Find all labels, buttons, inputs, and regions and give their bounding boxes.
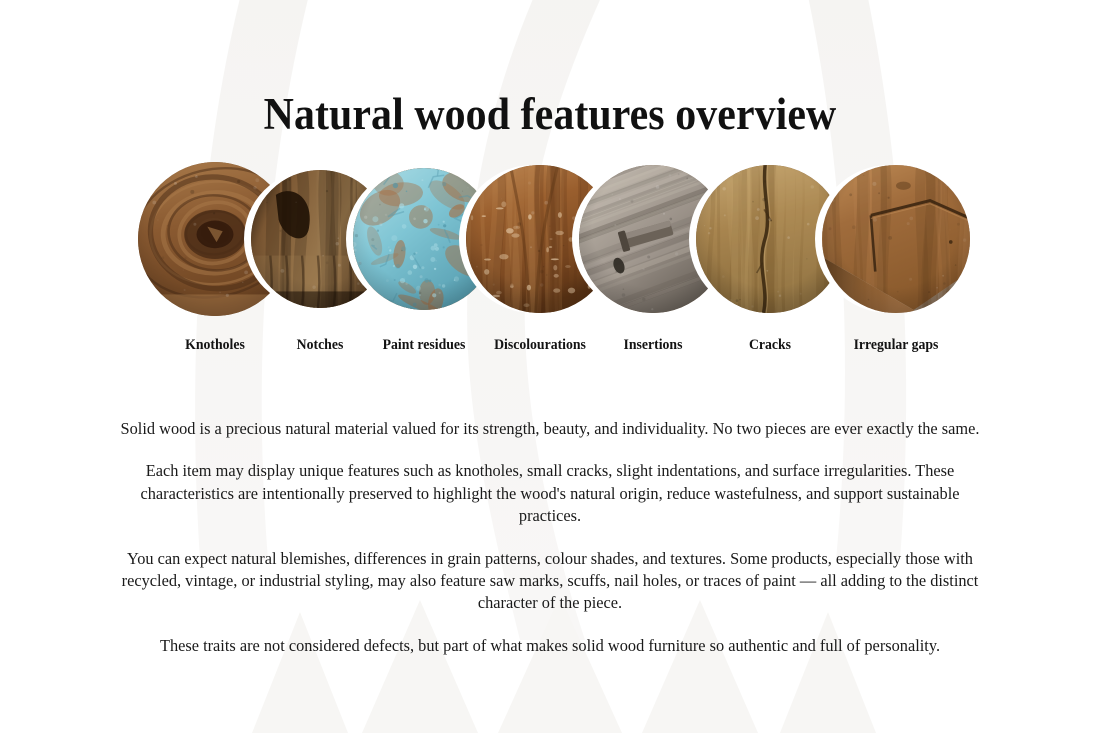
paragraph-2: Each item may display unique features su… [112, 460, 989, 527]
paragraph-1: Solid wood is a precious natural materia… [101, 418, 999, 440]
paragraph-3: You can expect natural blemishes, differ… [107, 548, 994, 615]
feature-circle-strip: Knotholes Notches Paint residues [0, 160, 1100, 360]
feature-label-irregular-gaps: Irregular gaps [769, 336, 1024, 354]
feature-item-irregular-gaps[interactable]: Irregular gaps [822, 160, 970, 360]
page-title: Natural wood features overview [39, 88, 1062, 140]
irregular-gap-wood-disc [822, 165, 970, 313]
page-root: Natural wood features overview Knotholes… [0, 0, 1100, 733]
body-copy: Solid wood is a precious natural materia… [94, 418, 1006, 657]
paragraph-4: These traits are not considered defects,… [101, 635, 999, 657]
